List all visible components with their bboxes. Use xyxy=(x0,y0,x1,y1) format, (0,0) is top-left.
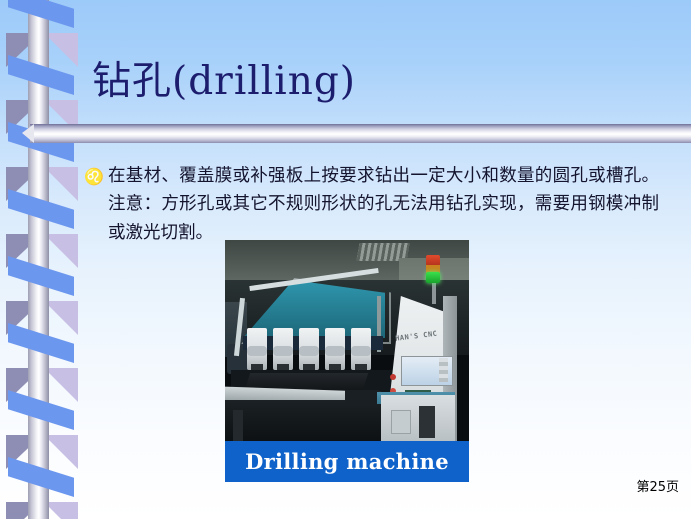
photo-spindle-collar xyxy=(273,346,293,356)
helix-ribbon-decoration xyxy=(0,0,80,519)
body-content: ♌ 在基材、覆盖膜或补强板上按要求钻出一定大小和数量的圆孔或槽孔。注意：方形孔或… xyxy=(84,162,659,247)
divider-beam-cap xyxy=(22,124,34,143)
bullet-text: 在基材、覆盖膜或补强板上按要求钻出一定大小和数量的圆孔或槽孔。注意：方形孔或其它… xyxy=(108,162,659,247)
slide-canvas: 钻孔(drilling) ♌ 在基材、覆盖膜或补强板上按要求钻出一定大小和数量的… xyxy=(0,0,691,519)
figure-caption-bar: Drilling machine xyxy=(225,441,469,482)
photo-screen-softkeys xyxy=(439,358,448,382)
photo-table-leg xyxy=(233,410,243,441)
machine-photo: HAN'S CNC xyxy=(225,240,469,441)
photo-cabinet-vent xyxy=(391,410,411,434)
slide-title: 钻孔(drilling) xyxy=(92,60,356,105)
photo-spindle-collar xyxy=(325,346,345,356)
photo-spindle-collar xyxy=(299,346,319,356)
figure-drilling-machine: HAN'S CNC Drilling machine xyxy=(225,240,469,482)
photo-spindle-collar xyxy=(247,346,267,356)
photo-spindle-collar xyxy=(351,346,371,356)
photo-cabinet-panel xyxy=(419,406,435,438)
divider-beam xyxy=(30,124,691,143)
page-number: 第25页 xyxy=(636,476,679,495)
photo-stack-light-green xyxy=(426,272,440,283)
bullet-item: ♌ 在基材、覆盖膜或补强板上按要求钻出一定大小和数量的圆孔或槽孔。注意：方形孔或… xyxy=(84,162,659,247)
photo-tool-box xyxy=(345,390,379,406)
bullet-marker-icon: ♌ xyxy=(84,164,108,190)
figure-caption-text: Drilling machine xyxy=(245,449,449,474)
photo-emergency-button xyxy=(390,374,396,380)
